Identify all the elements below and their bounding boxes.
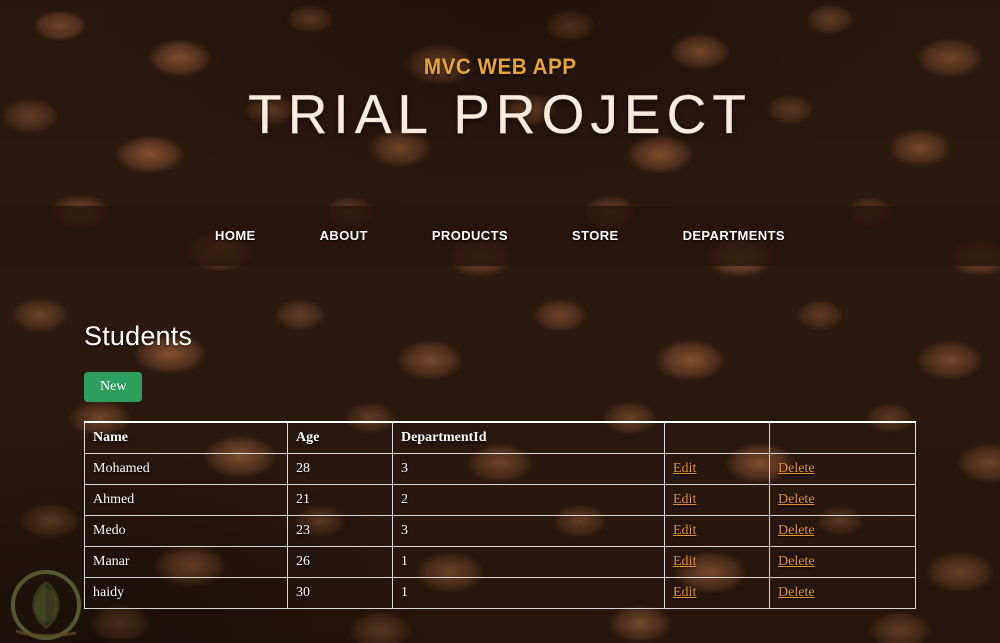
cell-age: 26 [288,546,393,577]
nav-link-home[interactable]: HOME [205,220,266,251]
new-student-button[interactable]: New [84,372,142,402]
column-header-delete [770,422,916,453]
students-table-head: Name Age DepartmentId [85,422,916,453]
cell-name: Mohamed [85,453,288,484]
cell-edit-action[interactable]: Edit [665,515,770,546]
column-header-department-id: DepartmentId [393,422,665,453]
cell-delete-action[interactable]: Delete [770,546,916,577]
students-table-body: Mohamed 28 3 Edit Delete Ahmed 21 2 Edit… [85,453,916,608]
cell-age: 23 [288,515,393,546]
cell-age: 21 [288,484,393,515]
nav-item-home[interactable]: HOME [183,227,288,245]
cell-delete-action[interactable]: Delete [770,484,916,515]
nav-link-departments[interactable]: DEPARTMENTS [673,220,795,251]
edit-link[interactable]: Edit [673,461,696,476]
cell-edit-action[interactable]: Edit [665,453,770,484]
cell-department-id: 3 [393,453,665,484]
cell-edit-action[interactable]: Edit [665,546,770,577]
students-table: Name Age DepartmentId Mohamed 28 3 Edit … [84,421,916,609]
cell-department-id: 2 [393,484,665,515]
delete-link[interactable]: Delete [778,585,815,600]
cell-department-id: 1 [393,546,665,577]
table-row: Ahmed 21 2 Edit Delete [85,484,916,515]
page-title: Students [84,321,1000,352]
nav-link-about[interactable]: ABOUT [310,220,378,251]
brand-tagline: MVC WEB APP [424,54,577,80]
nav-link-store[interactable]: STORE [562,220,629,251]
cell-name: Medo [85,515,288,546]
cell-department-id: 3 [393,515,665,546]
hero-header: MVC WEB APP TRIAL PROJECT [0,0,1000,206]
edit-link[interactable]: Edit [673,523,696,538]
nav-item-departments[interactable]: DEPARTMENTS [651,227,817,245]
cell-department-id: 1 [393,577,665,608]
cell-edit-action[interactable]: Edit [665,484,770,515]
edit-link[interactable]: Edit [673,554,696,569]
cell-name: haidy [85,577,288,608]
column-header-age: Age [288,422,393,453]
delete-link[interactable]: Delete [778,523,815,538]
nav-list: HOME ABOUT PRODUCTS STORE DEPARTMENTS [183,227,817,245]
page-root: MVC WEB APP TRIAL PROJECT HOME ABOUT PRO… [0,0,1000,643]
table-row: haidy 30 1 Edit Delete [85,577,916,608]
column-header-edit [665,422,770,453]
cell-delete-action[interactable]: Delete [770,453,916,484]
cell-name: Ahmed [85,484,288,515]
table-row: Medo 23 3 Edit Delete [85,515,916,546]
table-row: Manar 26 1 Edit Delete [85,546,916,577]
cell-delete-action[interactable]: Delete [770,577,916,608]
nav-item-about[interactable]: ABOUT [288,227,400,245]
cell-age: 28 [288,453,393,484]
main-navigation: HOME ABOUT PRODUCTS STORE DEPARTMENTS [0,206,1000,266]
delete-link[interactable]: Delete [778,554,815,569]
cell-name: Manar [85,546,288,577]
edit-link[interactable]: Edit [673,492,696,507]
nav-item-products[interactable]: PRODUCTS [400,227,540,245]
main-content: Students New Name Age DepartmentId Moham… [0,266,1000,643]
table-header-row: Name Age DepartmentId [85,422,916,453]
nav-link-products[interactable]: PRODUCTS [422,220,518,251]
edit-link[interactable]: Edit [673,585,696,600]
table-row: Mohamed 28 3 Edit Delete [85,453,916,484]
nav-item-store[interactable]: STORE [540,227,651,245]
delete-link[interactable]: Delete [778,492,815,507]
brand-title: TRIAL PROJECT [248,86,752,144]
cell-delete-action[interactable]: Delete [770,515,916,546]
cell-age: 30 [288,577,393,608]
delete-link[interactable]: Delete [778,461,815,476]
cell-edit-action[interactable]: Edit [665,577,770,608]
column-header-name: Name [85,422,288,453]
